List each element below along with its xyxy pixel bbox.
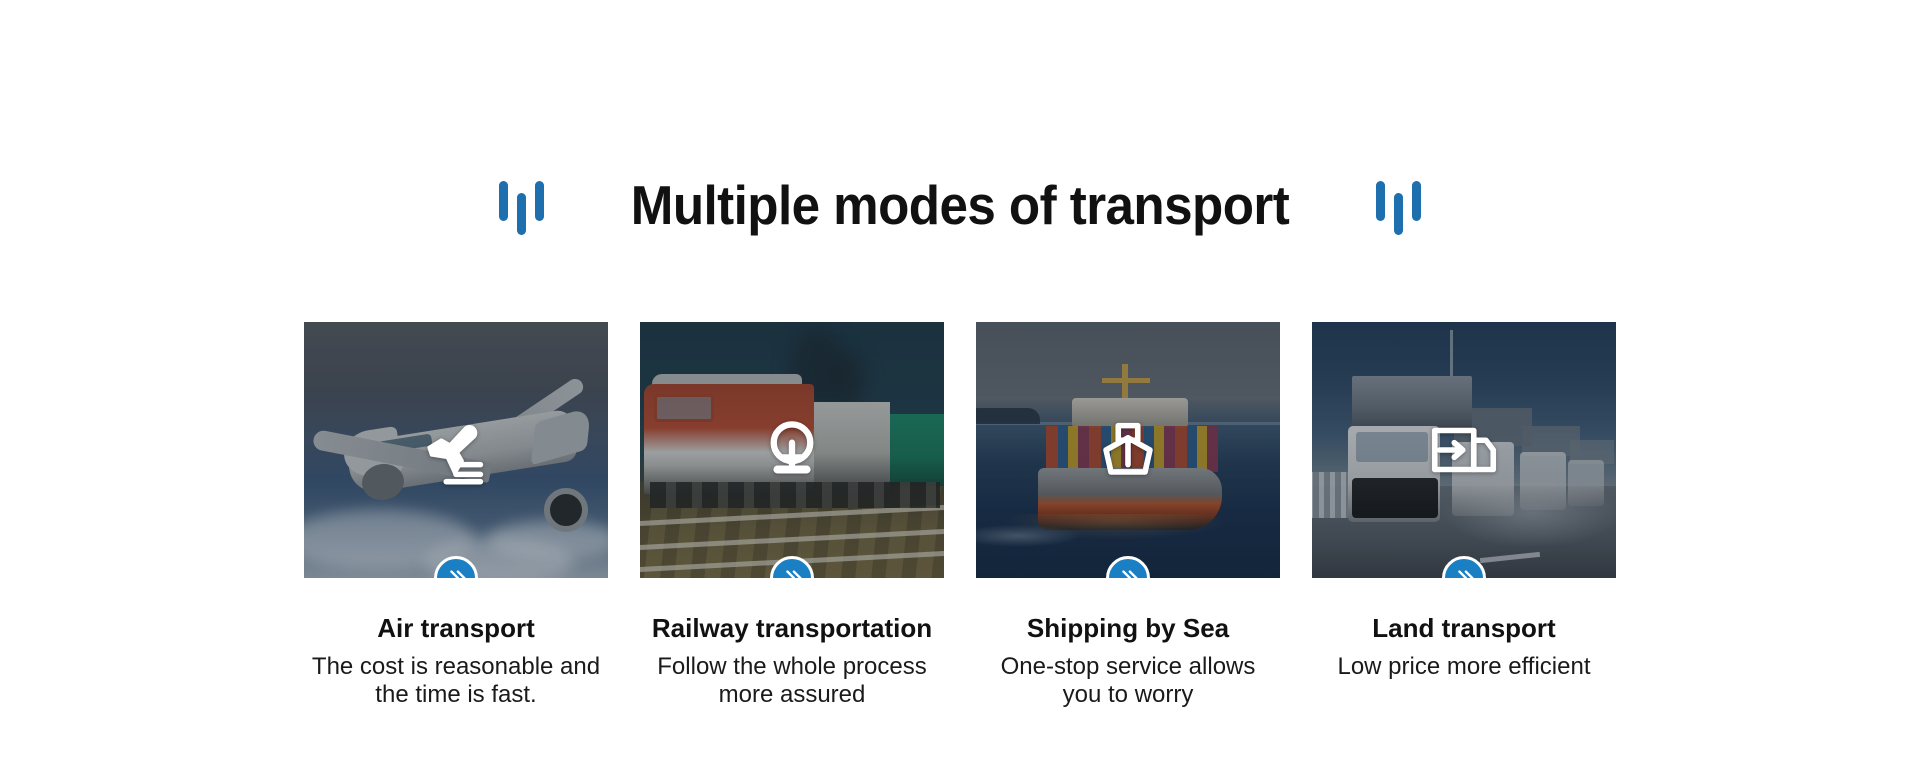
transport-mode-card-railway[interactable]: Railway transportation Follow the whole … [640,322,944,710]
transport-mode-card-list: Air transport The cost is reasonable and… [304,322,1616,710]
card-thumbnail-railway[interactable] [640,322,944,578]
card-title-air: Air transport [377,614,534,644]
card-thumbnail-air[interactable] [304,322,608,578]
double-chevron-right-icon [445,567,467,578]
bar-group-icon-right [1376,181,1421,231]
card-thumbnail-sea[interactable] [976,322,1280,578]
railway-emblem-icon [753,411,831,489]
card-description-land: Low price more efficient [1337,653,1590,681]
double-chevron-right-icon [1117,567,1139,578]
page-header: Multiple modes of transport [0,178,1920,233]
card-title-land: Land transport [1372,614,1555,644]
transport-mode-card-sea[interactable]: Shipping by Sea One-stop service allows … [976,322,1280,710]
transport-mode-card-air[interactable]: Air transport The cost is reasonable and… [304,322,608,710]
double-chevron-right-icon [781,567,803,578]
card-description-sea: One-stop service allows you to worry [978,653,1278,710]
card-title-sea: Shipping by Sea [1027,614,1229,644]
decor-bar [1376,181,1385,221]
card-description-air: The cost is reasonable and the time is f… [306,653,606,710]
decor-bar [1394,193,1403,235]
cargo-ship-icon [1089,411,1167,489]
page-title: Multiple modes of transport [631,178,1289,233]
delivery-truck-icon [1425,411,1503,489]
transport-modes-page: Multiple modes of transport [0,0,1920,764]
double-chevron-right-icon [1453,567,1475,578]
bar-group-icon-left [499,181,544,231]
decor-bar [1412,181,1421,221]
card-thumbnail-land[interactable] [1312,322,1616,578]
card-title-railway: Railway transportation [652,614,932,644]
transport-mode-card-land[interactable]: Land transport Low price more efficient [1312,322,1616,710]
decor-bar [517,193,526,235]
airplane-icon [417,411,495,489]
decor-bar [499,181,508,221]
card-description-railway: Follow the whole process more assured [642,653,942,710]
decor-bar [535,181,544,221]
